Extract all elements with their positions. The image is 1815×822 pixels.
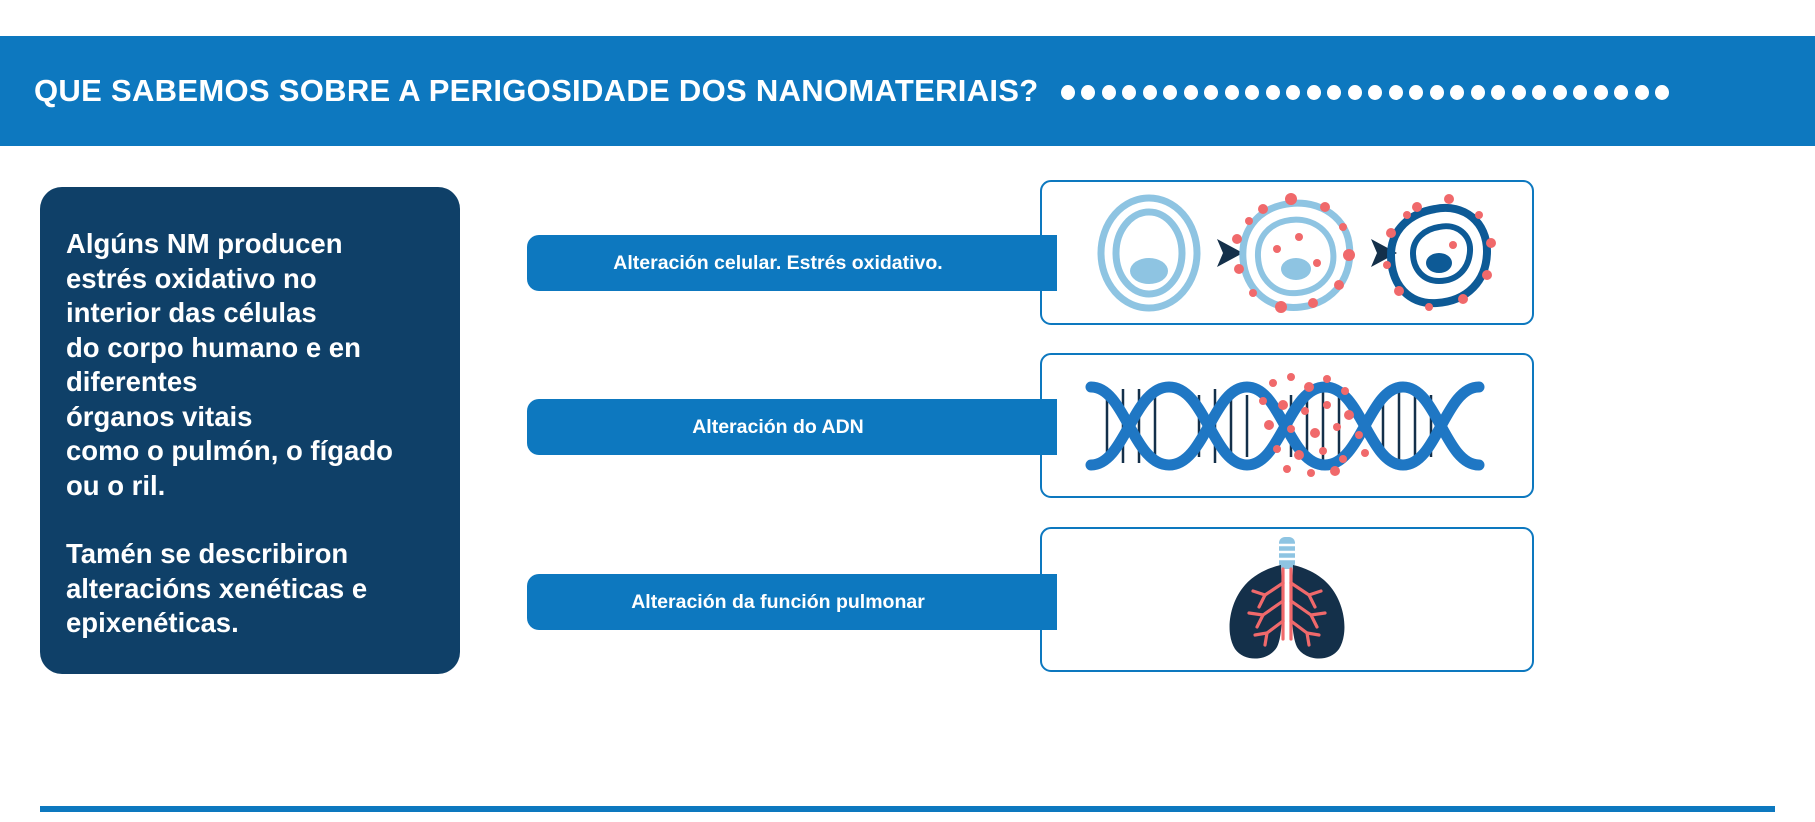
header-dot <box>1450 85 1464 100</box>
info-panel: Algúns NM producen estrés oxidativo no i… <box>40 187 460 674</box>
cell-oxidative-stress-icon <box>1042 182 1532 323</box>
header-dot <box>1102 85 1116 100</box>
page-title: QUE SABEMOS SOBRE A PERIGOSIDADE DOS NAN… <box>34 73 1039 109</box>
header-dot <box>1532 85 1546 100</box>
header-dot <box>1143 85 1157 100</box>
illustration-card-dna <box>1040 353 1534 498</box>
header-dot <box>1081 85 1095 100</box>
bottom-rule <box>40 806 1775 812</box>
header-dot <box>1061 85 1075 100</box>
info-paragraph-2: Tamén se describiron alteracións xenétic… <box>66 537 460 641</box>
header-dot <box>1389 85 1403 100</box>
effect-label-bar-cell[interactable]: Alteración celular. Estrés oxidativo. <box>527 235 1057 291</box>
page-header: QUE SABEMOS SOBRE A PERIGOSIDADE DOS NAN… <box>0 36 1815 146</box>
dna-helix-icon <box>1042 355 1532 496</box>
header-dot <box>1594 85 1608 100</box>
header-dot <box>1266 85 1280 100</box>
header-dot <box>1327 85 1341 100</box>
effect-label-text: Alteración do ADN <box>692 416 864 439</box>
header-dot <box>1225 85 1239 100</box>
header-dot <box>1573 85 1587 100</box>
header-dot <box>1635 85 1649 100</box>
header-dot <box>1471 85 1485 100</box>
header-dot <box>1430 85 1444 100</box>
header-dot <box>1184 85 1198 100</box>
header-dot <box>1245 85 1259 100</box>
header-dot <box>1553 85 1567 100</box>
header-dot <box>1409 85 1423 100</box>
header-dot <box>1204 85 1218 100</box>
header-dot <box>1163 85 1177 100</box>
illustration-card-cell <box>1040 180 1534 325</box>
lungs-icon <box>1042 529 1532 670</box>
header-dot <box>1122 85 1136 100</box>
effect-label-text: Alteración da función pulmonar <box>631 591 925 614</box>
header-dot <box>1491 85 1505 100</box>
header-dot <box>1614 85 1628 100</box>
header-dot <box>1655 85 1669 100</box>
header-dot <box>1348 85 1362 100</box>
illustration-card-lungs <box>1040 527 1534 672</box>
info-paragraph-1: Algúns NM producen estrés oxidativo no i… <box>66 227 460 503</box>
effect-label-bar-dna[interactable]: Alteración do ADN <box>527 399 1057 455</box>
header-dot <box>1307 85 1321 100</box>
header-dot <box>1286 85 1300 100</box>
effect-label-bar-lungs[interactable]: Alteración da función pulmonar <box>527 574 1057 630</box>
header-dot <box>1512 85 1526 100</box>
effect-label-text: Alteración celular. Estrés oxidativo. <box>613 252 942 275</box>
header-dot <box>1368 85 1382 100</box>
dotted-rule <box>1061 82 1670 100</box>
